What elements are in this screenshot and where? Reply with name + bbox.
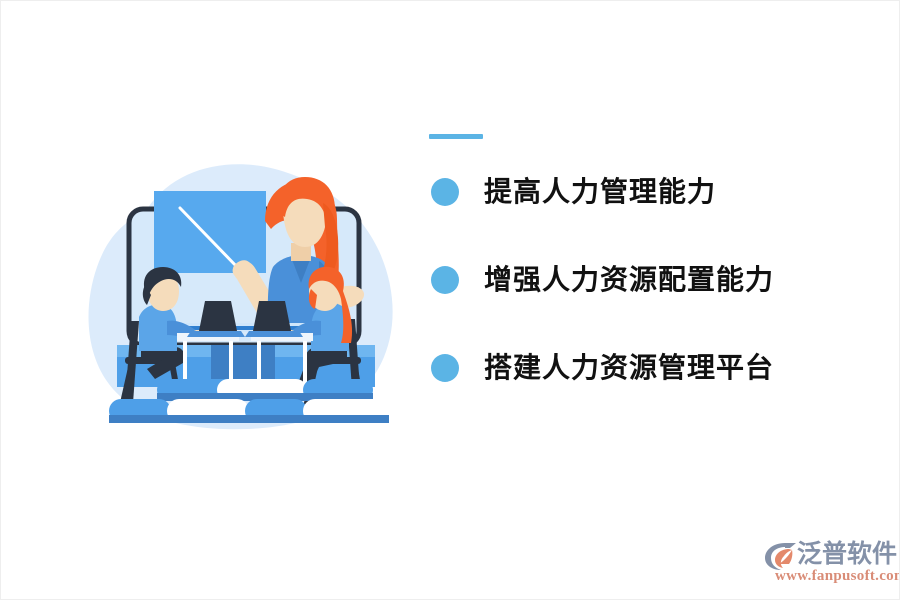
list-item: 搭建人力资源管理平台 <box>431 345 861 391</box>
monitor-stand-front <box>211 345 275 379</box>
benefit-list: 提高人力管理能力 增强人力资源配置能力 搭建人力资源管理平台 <box>431 169 861 391</box>
brand-logo: 泛普软件 www.fanpusoft.com <box>763 539 893 585</box>
bullet-dot-icon <box>431 178 459 206</box>
list-item-label: 提高人力管理能力 <box>484 178 716 206</box>
laptop-right-base <box>245 331 303 337</box>
bullet-dot-icon <box>431 354 459 382</box>
accent-underline <box>429 134 483 139</box>
online-training-illustration <box>79 151 409 441</box>
laptop-left-base <box>187 331 245 337</box>
presentation-board <box>154 191 266 273</box>
list-item-label: 增强人力资源配置能力 <box>484 266 774 294</box>
fanpu-logo-icon <box>763 541 797 571</box>
brand-name: 泛普软件 <box>797 539 897 569</box>
list-item-label: 搭建人力资源管理平台 <box>484 354 774 382</box>
laptop-right-lid <box>253 301 291 331</box>
book-stack-upper <box>157 379 373 401</box>
slide-canvas: 提高人力管理能力 增强人力资源配置能力 搭建人力资源管理平台 泛普软件 www.… <box>0 0 900 600</box>
list-item: 增强人力资源配置能力 <box>431 257 861 303</box>
laptop-left-lid <box>199 301 237 331</box>
book-stack-lower <box>109 399 389 423</box>
list-item: 提高人力管理能力 <box>431 169 861 215</box>
bullet-dot-icon <box>431 266 459 294</box>
brand-url: www.fanpusoft.com <box>775 568 900 585</box>
